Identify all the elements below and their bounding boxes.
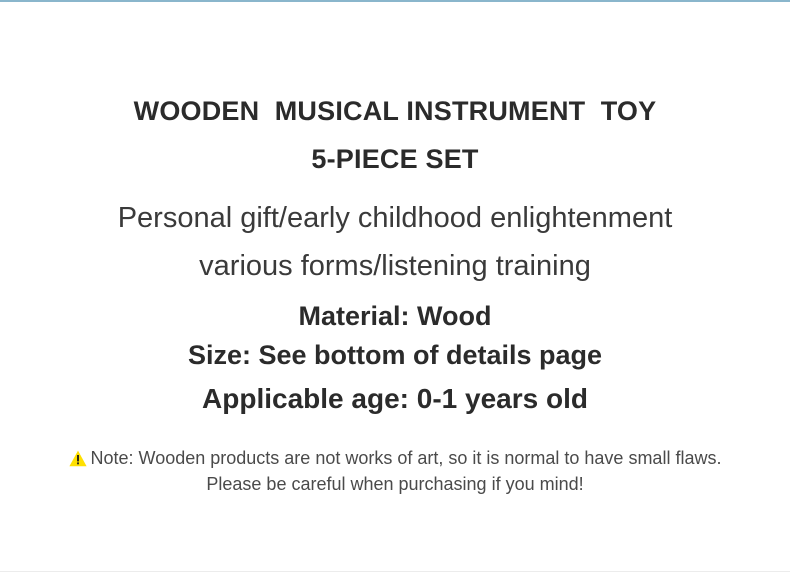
- product-subtitle-line-1: Personal gift/early childhood enlightenm…: [0, 201, 790, 235]
- product-subtitle-line-2: various forms/listening training: [0, 249, 790, 283]
- note-line-1-row: Note: Wooden products are not works of a…: [0, 446, 790, 471]
- note-block: Note: Wooden products are not works of a…: [0, 446, 790, 497]
- product-description-banner: WOODEN MUSICAL INSTRUMENT TOY 5-PIECE SE…: [0, 0, 790, 572]
- spec-material: Material: Wood: [0, 300, 790, 332]
- spec-size: Size: See bottom of details page: [0, 339, 790, 371]
- warning-triangle-icon: [69, 450, 87, 467]
- product-title-line-1: WOODEN MUSICAL INSTRUMENT TOY: [0, 95, 790, 127]
- product-title-line-2: 5-PIECE SET: [0, 143, 790, 175]
- note-line-1-text: Note: Wooden products are not works of a…: [91, 448, 722, 468]
- note-line-2-text: Please be careful when purchasing if you…: [0, 472, 790, 497]
- spec-applicable-age: Applicable age: 0-1 years old: [0, 382, 790, 416]
